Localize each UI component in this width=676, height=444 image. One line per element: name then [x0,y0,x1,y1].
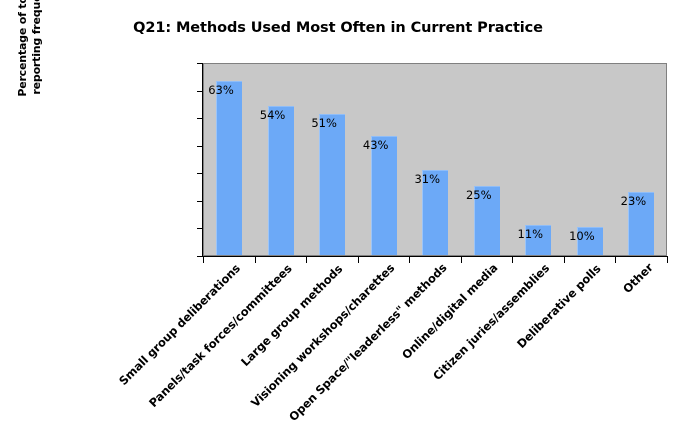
x-tick-mark [409,257,410,263]
x-category-label: Large group methods [238,261,345,368]
x-tick-mark [512,257,513,263]
x-tick-mark [203,257,204,263]
bar-slot: 63% [204,64,256,255]
x-tick-mark [306,257,307,263]
bar-value-label: 23% [611,194,655,208]
bar-slot: 43% [359,64,411,255]
bar-slot: 31% [410,64,462,255]
bar-slot: 54% [256,64,308,255]
x-tick-mark [564,257,565,263]
bar-value-label: 63% [199,83,243,97]
x-tick-mark [461,257,462,263]
bar[interactable] [371,136,397,255]
bar-slot: 25% [462,64,514,255]
bar-value-label: 43% [354,138,398,152]
x-category-label: Other [620,261,656,297]
bar-value-label: 11% [508,227,552,241]
bar[interactable] [216,81,242,255]
bar-chart: Q21: Methods Used Most Often in Current … [0,0,676,444]
bar[interactable] [319,114,345,255]
bar-slot: 51% [307,64,359,255]
bar-value-label: 54% [251,108,295,122]
bar-value-label: 51% [302,116,346,130]
bars-layer: 63%54%51%43%31%25%11%10%23% [204,64,666,255]
bar-slot: 10% [565,64,617,255]
x-tick-mark [615,257,616,263]
x-tick-mark [667,257,668,263]
bar-slot: 23% [616,64,668,255]
plot-area: 63%54%51%43%31%25%11%10%23% [203,63,667,256]
bar-value-label: 25% [457,188,501,202]
bar[interactable] [268,106,294,255]
x-tick-mark [358,257,359,263]
bar-value-label: 31% [405,172,449,186]
x-tick-mark [255,257,256,263]
x-axis-line [202,256,668,257]
x-category-label: Online/digital media [399,261,500,362]
bar-value-label: 10% [560,229,604,243]
bar-slot: 11% [513,64,565,255]
